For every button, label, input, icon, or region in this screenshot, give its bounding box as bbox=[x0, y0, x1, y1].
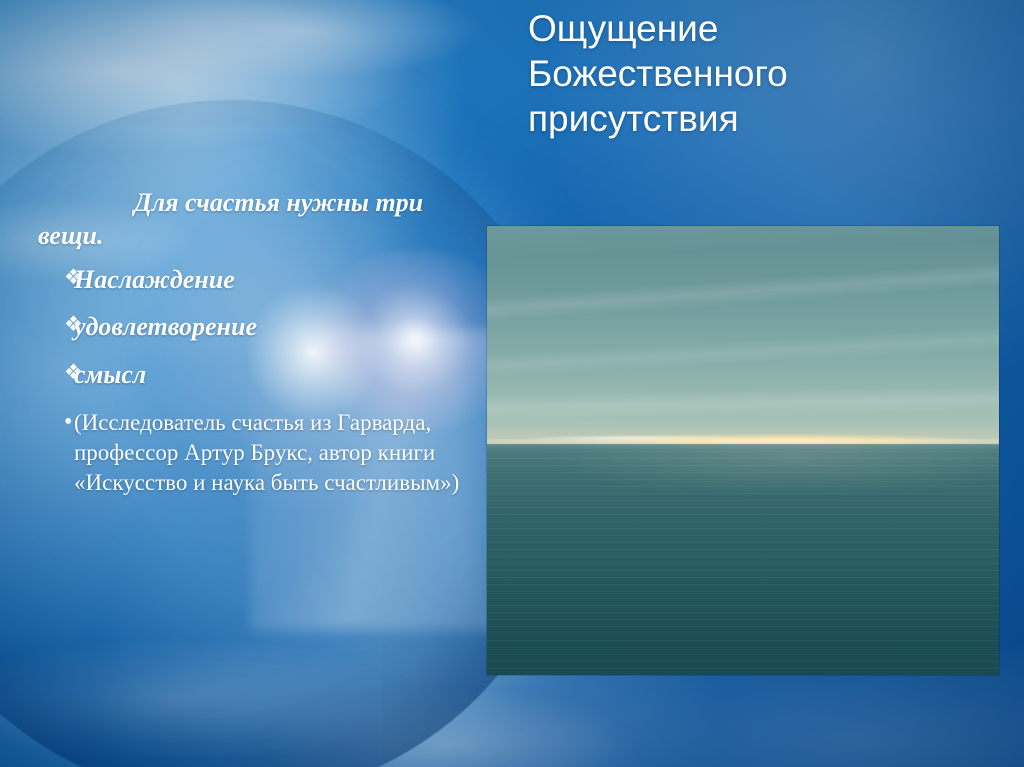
list-item: ❖ смысл bbox=[38, 358, 488, 392]
slide-title: Ощущение Божественного присутствия bbox=[528, 6, 998, 141]
list-item: ❖ Наслаждение bbox=[38, 263, 488, 297]
list-item-label: Наслаждение bbox=[74, 263, 235, 297]
list-item: ❖ удовлетворение bbox=[38, 310, 488, 344]
lead-paragraph: Для счастья нужны три вещи. bbox=[38, 186, 488, 253]
presentation-slide: Ощущение Божественного присутствия Для с… bbox=[0, 0, 1024, 767]
list-item-label: смысл bbox=[74, 358, 146, 392]
list-item-label: удовлетворение bbox=[74, 310, 257, 344]
photo-sea-texture bbox=[487, 444, 999, 675]
diamond-bullet-icon: ❖ bbox=[38, 310, 74, 338]
attribution-note-text: (Исследователь счастья из Гарварда, проф… bbox=[74, 408, 474, 498]
photo-sky-streaks bbox=[487, 226, 999, 444]
attribution-note: • (Исследователь счастья из Гарварда, пр… bbox=[38, 408, 488, 498]
diamond-bullet-icon: ❖ bbox=[38, 263, 74, 291]
round-bullet-icon: • bbox=[38, 408, 74, 437]
diamond-bullet-icon: ❖ bbox=[38, 358, 74, 386]
slide-body: Для счастья нужны три вещи. ❖ Наслаждени… bbox=[38, 186, 488, 498]
sea-horizon-photo bbox=[487, 226, 999, 675]
